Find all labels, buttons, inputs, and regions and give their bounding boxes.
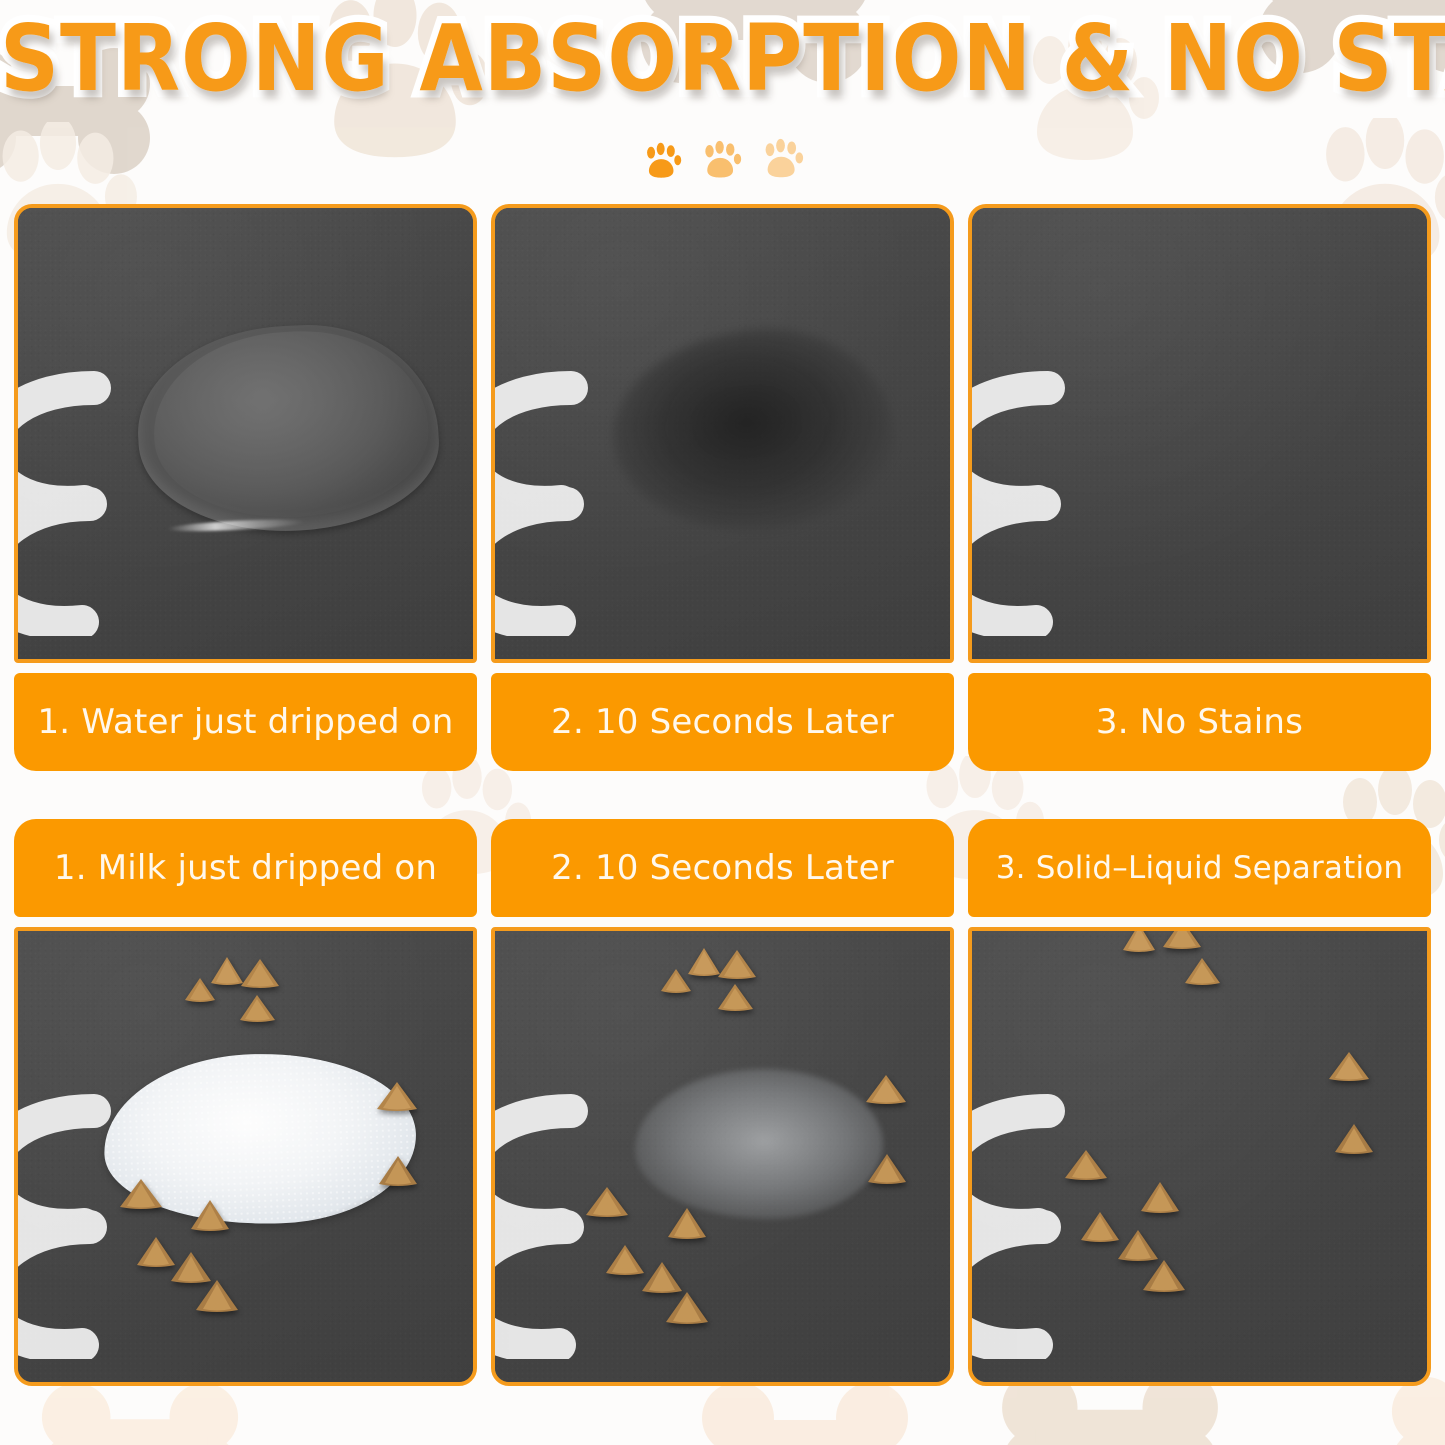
caption-milk-step-1: 1. Milk just dripped on — [14, 819, 477, 917]
cell-water-step-1: 1. Water just dripped on — [14, 204, 477, 771]
kibble-icon — [1117, 1229, 1159, 1262]
photo-dry-mat-with-kibble — [968, 927, 1431, 1386]
kibble-icon — [376, 1081, 418, 1112]
kibble-icon — [667, 1207, 707, 1240]
photo-milk-absorbing — [491, 927, 954, 1386]
paw-divider — [0, 138, 1445, 182]
kibble-icon — [240, 958, 280, 989]
cell-water-step-3: 3. No Stains — [968, 204, 1431, 771]
page-title-text: STRONG ABSORPTION & NO STAINS — [0, 14, 1445, 106]
kibble-icon — [660, 968, 692, 994]
infographic-page: STRONG ABSORPTION & NO STAINS — [0, 0, 1445, 1445]
cell-milk-step-1: 1. Milk just dripped on — [14, 819, 477, 1386]
kibble-icon — [195, 1279, 239, 1313]
kibble-icon — [1064, 1149, 1108, 1181]
paw-print-icon — [760, 138, 804, 182]
mat-logo-icon — [968, 356, 1156, 636]
kibble-icon — [1184, 957, 1221, 986]
caption-water-step-1: 1. Water just dripped on — [14, 673, 477, 771]
kibble-icon — [867, 1153, 907, 1185]
row-milk-test: 1. Milk just dripped on — [14, 819, 1431, 1386]
photo-damp-spot — [491, 204, 954, 663]
bone-icon — [700, 1380, 910, 1445]
paw-print-icon — [642, 142, 682, 182]
kibble-icon — [378, 1155, 418, 1187]
kibble-icon — [687, 947, 721, 977]
photo-water-puddle — [14, 204, 477, 663]
bone-icon — [40, 1378, 240, 1445]
cell-water-step-2: 2. 10 Seconds Later — [491, 204, 954, 771]
milk-residue — [635, 1069, 883, 1219]
kibble-icon — [190, 1199, 230, 1232]
kibble-icon — [239, 994, 276, 1023]
photo-clean-mat — [968, 204, 1431, 663]
kibble-icon — [1140, 1181, 1180, 1214]
page-title: STRONG ABSORPTION & NO STAINS — [0, 14, 1445, 96]
kibble-icon — [1162, 927, 1202, 950]
kibble-icon — [717, 949, 757, 980]
kibble-icon — [1142, 1259, 1186, 1293]
caption-milk-step-2: 2. 10 Seconds Later — [491, 819, 954, 917]
kibble-icon — [585, 1186, 629, 1218]
photo-milk-puddle — [14, 927, 477, 1386]
kibble-icon — [1080, 1211, 1120, 1243]
caption-water-step-2: 2. 10 Seconds Later — [491, 673, 954, 771]
row-water-test: 1. Water just dripped on 2. 10 Seconds L… — [14, 204, 1431, 771]
kibble-icon — [605, 1244, 645, 1276]
kibble-icon — [184, 977, 216, 1003]
kibble-icon — [119, 1178, 163, 1210]
kibble-icon — [865, 1074, 907, 1105]
kibble-icon — [1122, 927, 1156, 953]
kibble-icon — [717, 983, 754, 1012]
cell-milk-step-2: 2. 10 Seconds Later — [491, 819, 954, 1386]
comparison-grid: 1. Water just dripped on 2. 10 Seconds L… — [14, 204, 1431, 1386]
caption-water-step-3: 3. No Stains — [968, 673, 1431, 771]
mat-logo-icon — [968, 1079, 1156, 1359]
cell-milk-step-3: 3. Solid–Liquid Separation — [968, 819, 1431, 1386]
paw-print-icon — [700, 140, 742, 182]
kibble-icon — [1328, 1051, 1370, 1082]
kibble-icon — [641, 1261, 683, 1294]
caption-milk-step-3: 3. Solid–Liquid Separation — [968, 819, 1431, 917]
kibble-icon — [665, 1291, 709, 1325]
kibble-icon — [1334, 1123, 1374, 1155]
